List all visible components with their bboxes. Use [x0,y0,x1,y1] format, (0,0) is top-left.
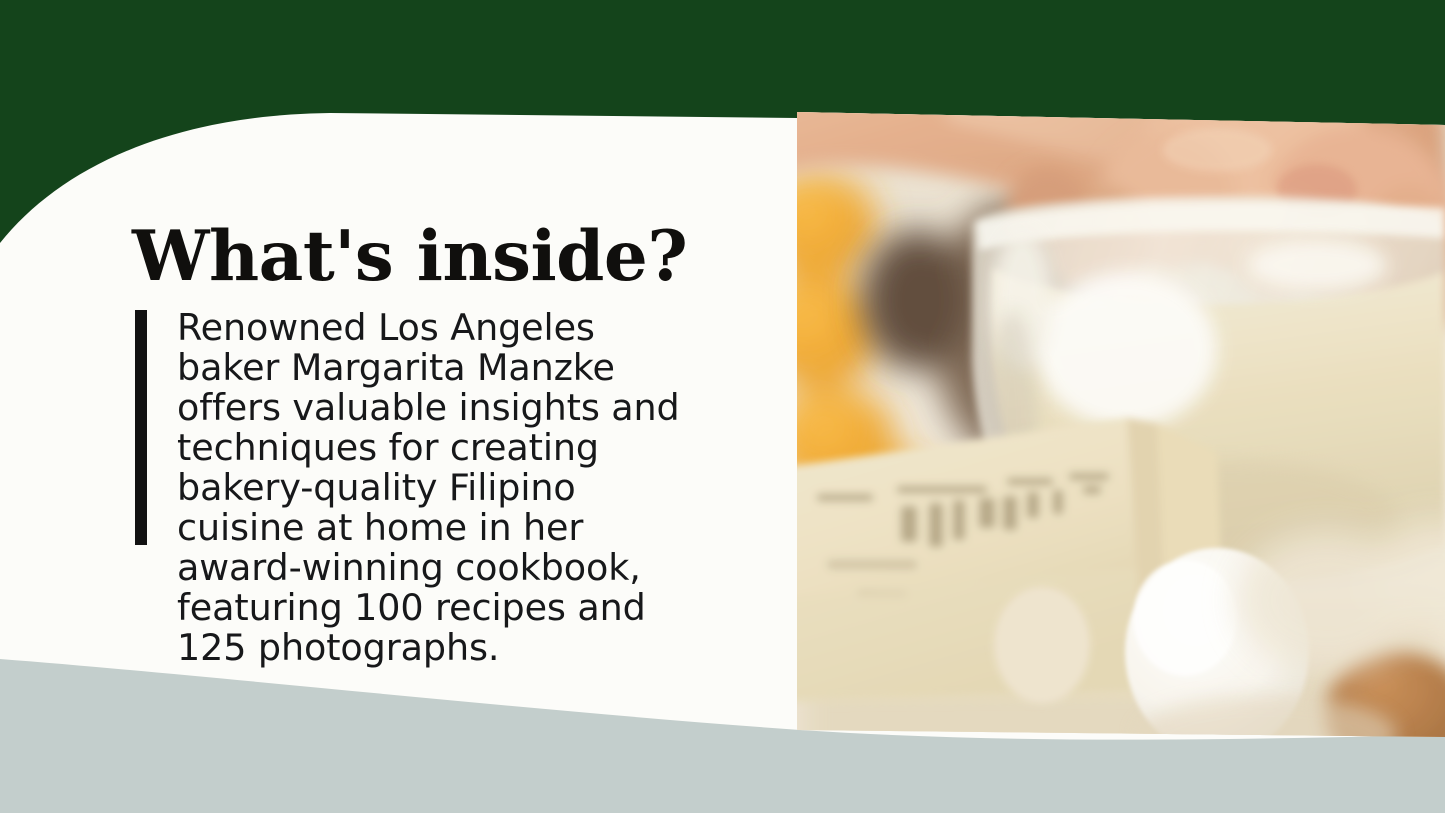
text-column: What's inside? Renowned Los Angeles bake… [0,0,797,813]
page-title: What's inside? [132,222,687,291]
quote-block: Renowned Los Angeles baker Margarita Man… [135,310,697,705]
body-paragraph: Renowned Los Angeles baker Margarita Man… [177,308,697,668]
quote-accent-bar [135,310,147,545]
slide-canvas: What's inside? Renowned Los Angeles bake… [0,0,1445,813]
